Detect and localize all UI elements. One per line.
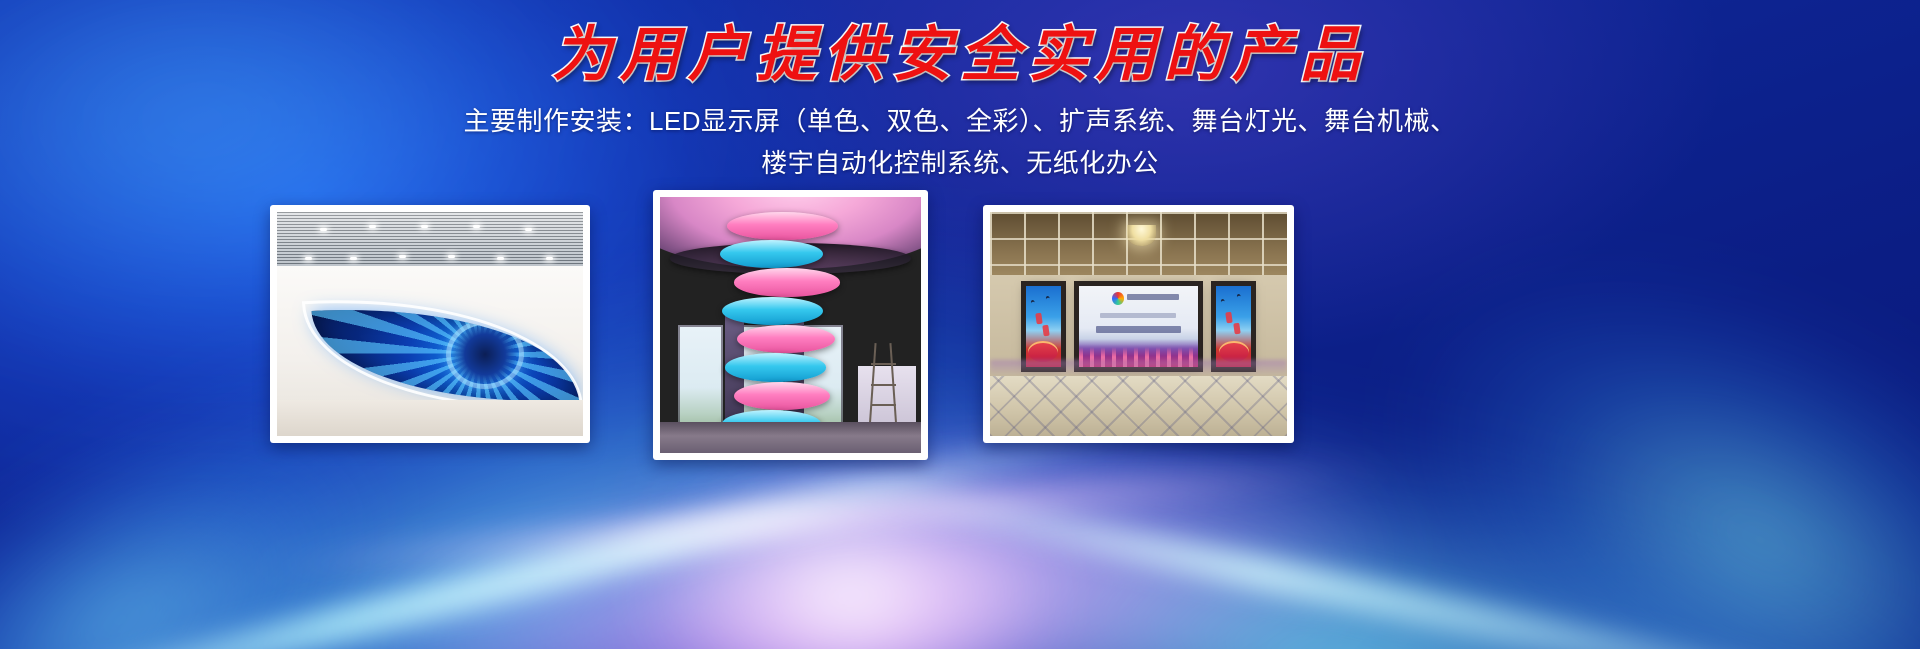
- ceiling-lamp-icon: [497, 257, 504, 260]
- photo-spiral-led-ribbon: [660, 197, 921, 453]
- screen-slogan-line: [1096, 326, 1182, 332]
- headline-container: 为用户提供安全实用的产品: [0, 24, 1920, 87]
- gallery: [0, 0, 1920, 649]
- ribbon-band: [734, 268, 840, 296]
- banner-headline: 为用户提供安全实用的产品: [552, 24, 1368, 87]
- ladder-rung: [871, 384, 896, 386]
- red-arc-graphic: [1028, 341, 1058, 362]
- ceiling-lamp-icon: [320, 228, 327, 231]
- floor-reflection: [990, 360, 1287, 376]
- led-screen-left: [1026, 286, 1062, 367]
- ceiling-lamp-icon: [448, 255, 455, 258]
- bird-icon: [1046, 295, 1051, 302]
- ribbon-band: [720, 240, 823, 268]
- bird-icon: [1220, 298, 1225, 305]
- ceiling-lamp-icon: [525, 228, 532, 231]
- calligraphy-glyph: [1225, 311, 1233, 323]
- ceiling-shading: [277, 212, 583, 270]
- ribbon-band: [727, 212, 837, 240]
- ceiling-lamp-icon: [399, 255, 406, 258]
- ceiling-lamp-icon: [305, 257, 312, 260]
- photo-eye-shaped-led-display: [277, 212, 583, 436]
- ladder-rung: [871, 404, 896, 406]
- gallery-card-spiral-led-ribbon[interactable]: [653, 190, 928, 460]
- calligraphy-glyph: [1036, 313, 1044, 325]
- coffered-ceiling: [990, 212, 1287, 279]
- ladder-rung: [871, 363, 896, 365]
- checkered-floor: [990, 376, 1287, 436]
- floor: [277, 400, 583, 436]
- screen-title-line: [1127, 294, 1179, 300]
- ribbon-band: [725, 353, 826, 381]
- calligraphy-glyph: [1043, 324, 1051, 336]
- ribbon-band: [734, 382, 830, 410]
- subtitle-line-1: 主要制作安装：LED显示屏（单色、双色、全彩）、扩声系统、舞台灯光、舞台机械、: [0, 100, 1920, 142]
- photo-conference-hall-led-screens: [990, 212, 1287, 436]
- red-arc-graphic: [1219, 341, 1249, 362]
- promo-banner: 为用户提供安全实用的产品 主要制作安装：LED显示屏（单色、双色、全彩）、扩声系…: [0, 0, 1920, 649]
- screen-subtitle-line: [1100, 313, 1176, 318]
- ceiling-lamp-icon: [350, 257, 357, 260]
- banner-subtitle: 主要制作安装：LED显示屏（单色、双色、全彩）、扩声系统、舞台灯光、舞台机械、 …: [0, 100, 1920, 184]
- spiral-led-ribbon: [720, 207, 840, 443]
- company-logo-icon: [1112, 292, 1124, 305]
- ribbon-band: [722, 297, 823, 325]
- calligraphy-glyph: [1234, 323, 1242, 335]
- floor: [660, 422, 921, 453]
- window-pane: [678, 325, 722, 438]
- ribbon-band: [737, 325, 835, 353]
- gallery-card-eye-shaped-led-display[interactable]: [270, 205, 590, 443]
- led-screen-main: [1079, 286, 1198, 367]
- subtitle-line-2: 楼宇自动化控制系统、无纸化办公: [0, 142, 1920, 184]
- led-screen-right: [1216, 286, 1252, 367]
- gallery-card-conference-hall-led-screens[interactable]: [983, 205, 1294, 443]
- eye-shaped-led-screen: [311, 297, 579, 414]
- bird-icon: [1236, 294, 1241, 301]
- chandelier-icon: [1127, 225, 1157, 245]
- bird-icon: [1031, 300, 1036, 307]
- ceiling-lamp-icon: [546, 257, 553, 260]
